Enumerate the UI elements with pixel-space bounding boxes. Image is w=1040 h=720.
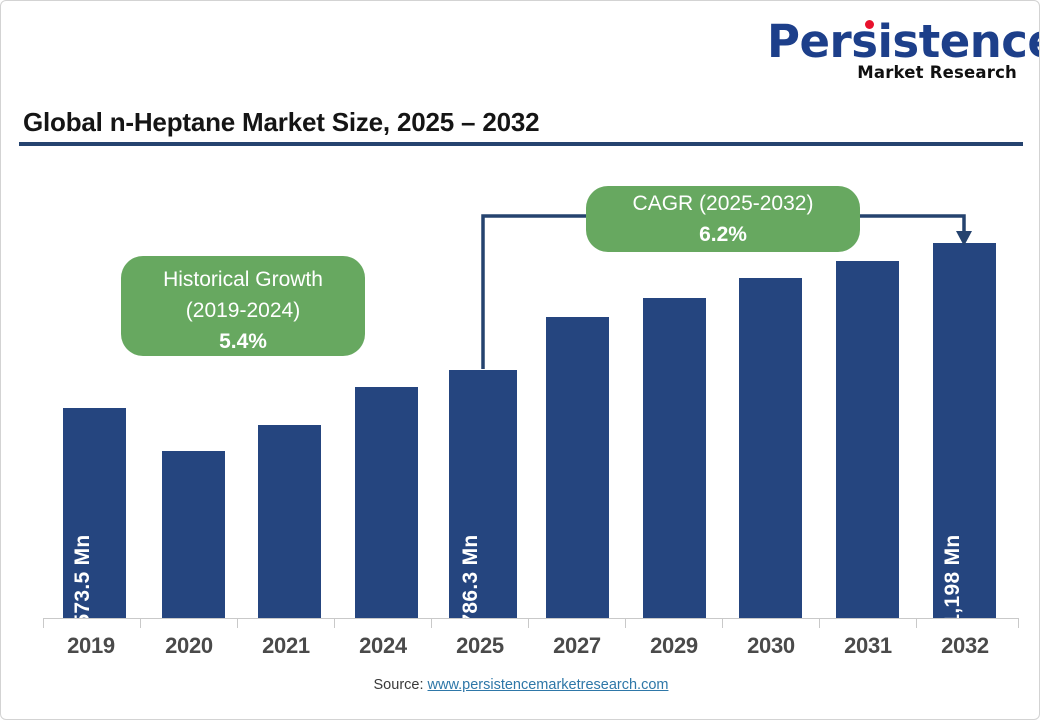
x-axis-tick bbox=[43, 619, 44, 628]
x-axis-tick bbox=[237, 619, 238, 628]
x-label-2032: 2032 bbox=[905, 633, 1025, 659]
bar-2031 bbox=[836, 261, 899, 618]
x-axis-tick bbox=[916, 619, 917, 628]
bar-2032: US$ 1,198 Mn bbox=[933, 243, 996, 618]
bar-2024 bbox=[355, 387, 418, 618]
chart-page: Persistence Market Research Global n-Hep… bbox=[0, 0, 1040, 720]
x-axis-tick bbox=[140, 619, 141, 628]
bar-chart: US$ 573.5 Mn US$ 786.3 Mn US$ 1,198 Mn bbox=[1, 1, 1040, 720]
x-axis-tick bbox=[625, 619, 626, 628]
x-axis-tick bbox=[431, 619, 432, 628]
bar-2027 bbox=[546, 317, 609, 618]
bar-2029 bbox=[643, 298, 706, 618]
x-axis-tick bbox=[528, 619, 529, 628]
x-axis-tick bbox=[819, 619, 820, 628]
historical-growth-callout: Historical Growth (2019-2024) 5.4% bbox=[121, 256, 365, 356]
source-prefix: Source: bbox=[374, 677, 428, 693]
historical-growth-value: 5.4% bbox=[121, 326, 365, 357]
historical-growth-title: Historical Growth bbox=[121, 264, 365, 295]
historical-growth-period: (2019-2024) bbox=[121, 295, 365, 326]
bar-2025: US$ 786.3 Mn bbox=[449, 370, 517, 618]
x-axis-line bbox=[43, 618, 1019, 619]
bar-2019: US$ 573.5 Mn bbox=[63, 408, 126, 618]
source-line: Source: www.persistencemarketresearch.co… bbox=[1, 677, 1040, 693]
cagr-callout: CAGR (2025-2032) 6.2% bbox=[586, 186, 860, 252]
bar-2030 bbox=[739, 278, 802, 618]
bar-2021 bbox=[258, 425, 321, 618]
x-axis-tick bbox=[334, 619, 335, 628]
x-axis-tick bbox=[722, 619, 723, 628]
cagr-title: CAGR (2025-2032) bbox=[586, 188, 860, 219]
cagr-value: 6.2% bbox=[586, 219, 860, 250]
source-link[interactable]: www.persistencemarketresearch.com bbox=[428, 677, 669, 693]
bar-2020 bbox=[162, 451, 225, 618]
x-axis-tick bbox=[1018, 619, 1019, 628]
